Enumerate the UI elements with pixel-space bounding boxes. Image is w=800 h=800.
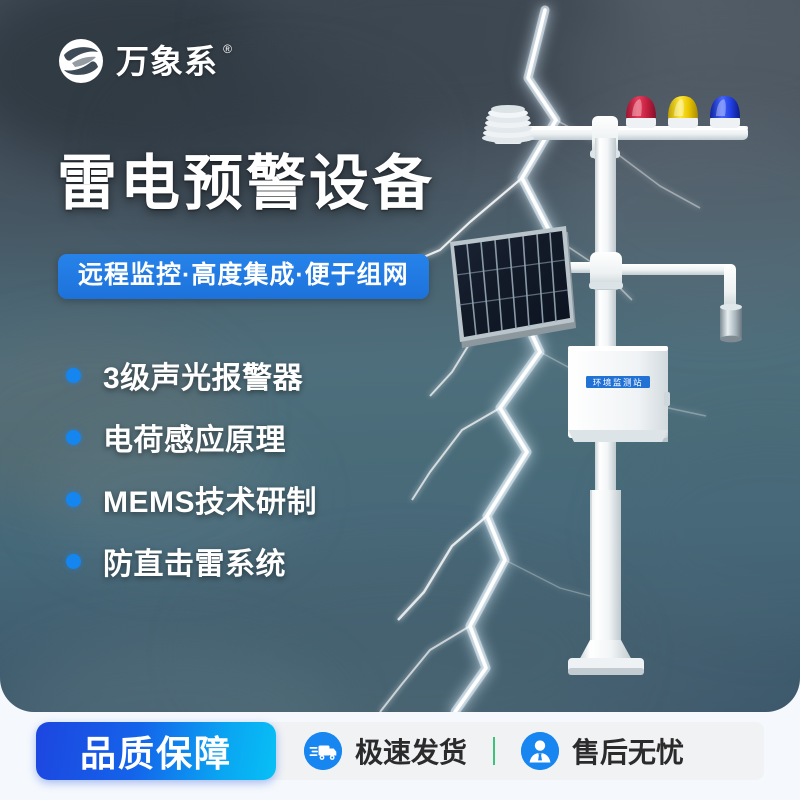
delivery-truck-icon — [304, 732, 342, 770]
lower-pole — [578, 490, 633, 662]
brand-logo-text: 万象系® — [116, 45, 218, 78]
feature-label: 电荷感应原理 — [103, 415, 286, 459]
quality-guarantee-badge[interactable]: 品质保障 — [36, 722, 276, 780]
top-cross-arm — [498, 126, 748, 140]
brand-logo: 万象系® — [58, 38, 218, 84]
feature-label: 3级声光报警器 — [103, 353, 303, 397]
promo-banner: 环境监测站 — [0, 0, 800, 800]
lightning-warning-device: 环境监测站 — [440, 90, 790, 700]
trust-item-after-sales[interactable]: 售后无忧 — [521, 731, 684, 771]
feature-item: 电荷感应原理 — [66, 406, 317, 468]
feature-item: MEMS技术研制 — [66, 468, 317, 530]
feature-item: 3级声光报警器 — [66, 344, 317, 406]
hero-photo-area: 环境监测站 — [0, 0, 800, 712]
rain-gauge-sensor — [720, 264, 742, 342]
bullet-dot-icon — [66, 430, 81, 445]
trust-item-label: 极速发货 — [355, 731, 467, 771]
customer-service-icon — [521, 732, 559, 770]
red-alarm-beacon — [626, 96, 656, 128]
trust-item-fast-shipping[interactable]: 极速发货 — [304, 731, 467, 771]
trust-divider — [493, 737, 495, 765]
feature-item: 防直击雷系统 — [66, 530, 317, 592]
control-box: 环境监测站 — [568, 346, 670, 442]
trust-item-label: 售后无忧 — [572, 731, 684, 771]
solar-panel — [450, 226, 576, 348]
trademark-symbol: ® — [223, 43, 233, 55]
blue-alarm-beacon — [710, 96, 740, 128]
yellow-alarm-beacon — [668, 96, 698, 128]
feature-list: 3级声光报警器 电荷感应原理 MEMS技术研制 防直击雷系统 — [66, 344, 317, 592]
bullet-dot-icon — [66, 554, 81, 569]
subtitle-bar: 远程监控·高度集成·便于组网 — [58, 254, 429, 299]
bullet-dot-icon — [66, 492, 81, 507]
control-box-label: 环境监测站 — [593, 378, 644, 388]
mid-cross-arm — [546, 252, 734, 290]
feature-label: 防直击雷系统 — [103, 539, 286, 583]
trust-bar: 品质保障 — [36, 722, 764, 780]
radiation-shield-sensor — [482, 105, 534, 144]
alarm-beacon-group — [626, 96, 740, 128]
feature-label: MEMS技术研制 — [103, 477, 317, 521]
page-title: 雷电预警设备 — [57, 154, 435, 214]
bullet-dot-icon — [66, 368, 81, 383]
swirl-globe-logo-icon — [58, 38, 104, 84]
brand-name: 万象系 — [116, 43, 218, 80]
base-plate — [568, 658, 644, 675]
